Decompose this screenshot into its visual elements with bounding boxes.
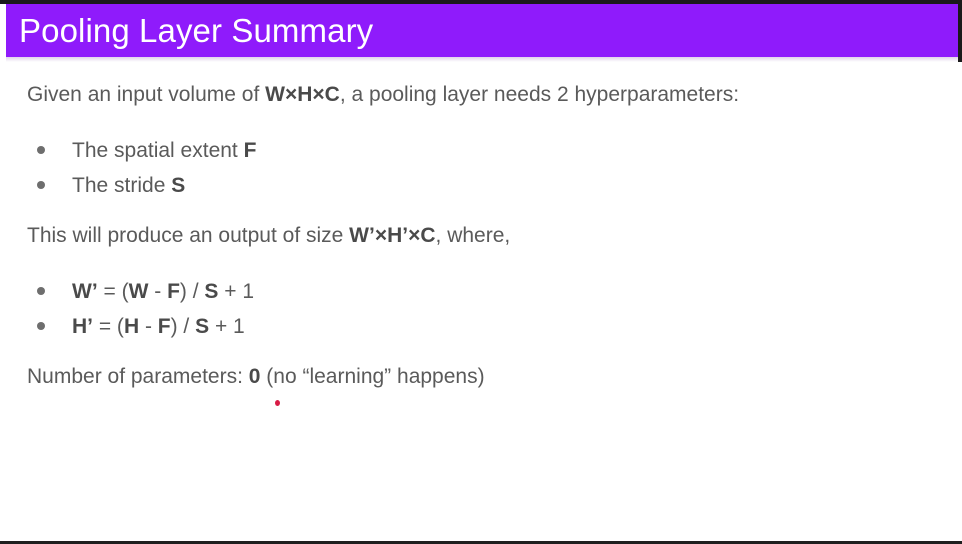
bullet-dot-icon: [37, 146, 45, 154]
formula-0-eq: = (: [98, 280, 129, 303]
params-text-before: Number of parameters:: [27, 365, 249, 388]
formula-0-v3: S: [204, 280, 218, 303]
params-bold-zero: 0: [249, 365, 261, 388]
slide: Pooling Layer Summary Given an input vol…: [0, 0, 962, 544]
formula-width: W’ = (W - F) / S + 1: [72, 274, 254, 309]
formula-height: H’ = (H - F) / S + 1: [72, 309, 245, 344]
intro-bold-volume: W×H×C: [265, 83, 340, 106]
formula-1-lhs: H’: [72, 315, 93, 338]
bullet-dot-icon: [37, 322, 45, 330]
formula-0-minus: -: [148, 280, 167, 303]
formula-0-lhs: W’: [72, 280, 98, 303]
formula-1-v2: F: [158, 315, 171, 338]
intro-text-before: Given an input volume of: [27, 83, 265, 106]
intro-text-after: , a pooling layer needs 2 hyperparameter…: [340, 83, 739, 106]
bullet-dot-icon: [37, 287, 45, 295]
list-item: W’ = (W - F) / S + 1: [0, 274, 962, 309]
page-title: Pooling Layer Summary: [6, 14, 373, 47]
formula-0-v1: W: [129, 280, 149, 303]
slide-footer: Seoul National University Graduate Schoo…: [0, 482, 962, 544]
list-item: The spatial extent F: [0, 133, 962, 168]
parameters-paragraph: Number of parameters: 0 (no “learning” h…: [27, 364, 485, 390]
title-banner: Pooling Layer Summary: [6, 4, 958, 57]
slide-body: Given an input volume of W×H×C, a poolin…: [0, 62, 962, 482]
list-item-label: The spatial extent F: [72, 133, 256, 168]
formula-1-minus: -: [139, 315, 158, 338]
hyperparam-1-text: The stride: [72, 174, 171, 197]
formula-1-plus: + 1: [209, 315, 245, 338]
params-text-after: (no “learning” happens): [260, 365, 484, 388]
hyperparam-0-text: The spatial extent: [72, 139, 244, 162]
formula-1-v1: H: [124, 315, 139, 338]
hyperparam-1-symbol: S: [171, 174, 185, 197]
hyperparameter-list: The spatial extent F The stride S: [0, 133, 962, 203]
hyperparam-0-symbol: F: [244, 139, 257, 162]
list-item: H’ = (H - F) / S + 1: [0, 309, 962, 344]
red-annotation-dot: [275, 400, 280, 406]
formula-0-v2: F: [167, 280, 180, 303]
formula-1-tail: ) /: [171, 315, 196, 338]
formula-1-eq: = (: [93, 315, 124, 338]
slide-right-edge: [958, 0, 962, 62]
formula-1-v3: S: [195, 315, 209, 338]
formula-0-plus: + 1: [218, 280, 254, 303]
output-text-after: , where,: [436, 224, 511, 247]
output-text-before: This will produce an output of size: [27, 224, 349, 247]
formula-0-tail: ) /: [180, 280, 205, 303]
output-bold-volume: W’×H’×C: [349, 224, 435, 247]
list-item: The stride S: [0, 168, 962, 203]
output-paragraph: This will produce an output of size W’×H…: [27, 223, 510, 249]
intro-paragraph: Given an input volume of W×H×C, a poolin…: [27, 82, 739, 108]
formula-list: W’ = (W - F) / S + 1 H’ = (H - F) / S + …: [0, 274, 962, 344]
list-item-label: The stride S: [72, 168, 185, 203]
bullet-dot-icon: [37, 181, 45, 189]
